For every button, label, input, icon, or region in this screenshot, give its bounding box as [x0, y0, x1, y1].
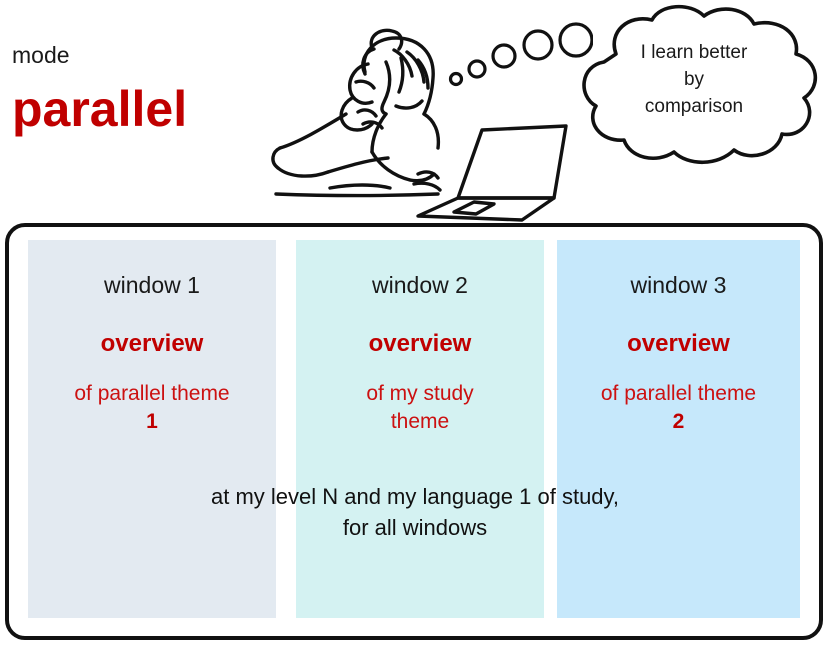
window-2-sub-line-2: theme — [302, 408, 538, 436]
window-3-overview: overview — [557, 330, 800, 358]
window-1-overview: overview — [28, 330, 276, 358]
caption-line-2: for all windows — [100, 513, 730, 544]
window-panel-1[interactable]: window 1 overview of parallel theme 1 — [28, 240, 276, 618]
window-panel-2[interactable]: window 2 overview of my study theme — [296, 240, 544, 618]
shared-caption: at my level N and my language 1 of study… — [100, 482, 730, 544]
window-1-title: window 1 — [28, 272, 276, 298]
diagram-canvas: mode parallel — [0, 0, 828, 645]
mode-label: mode — [12, 44, 70, 67]
bubble-line-1: I learn better — [596, 40, 792, 67]
window-3-subtitle: of parallel theme 2 — [557, 380, 800, 437]
window-3-title: window 3 — [557, 272, 800, 298]
window-3-sub-line: of parallel theme — [563, 380, 794, 408]
window-1-subtitle: of parallel theme 1 — [28, 380, 276, 437]
bubble-line-3: comparison — [596, 94, 792, 121]
windows-panel-group: window 1 overview of parallel theme 1 wi… — [28, 240, 800, 618]
window-panel-3[interactable]: window 3 overview of parallel theme 2 — [557, 240, 800, 618]
window-2-subtitle: of my study theme — [296, 380, 544, 437]
mode-value: parallel — [12, 84, 187, 134]
caption-line-1: at my level N and my language 1 of study… — [100, 482, 730, 513]
window-1-sub-line: of parallel theme — [34, 380, 270, 408]
bubble-line-2: by — [596, 67, 792, 94]
window-1-sub-strong: 1 — [34, 408, 270, 436]
window-2-sub-line: of my study — [302, 380, 538, 408]
window-2-overview: overview — [296, 330, 544, 358]
window-3-sub-strong: 2 — [563, 408, 794, 436]
thought-bubble-text: I learn better by comparison — [596, 40, 792, 121]
window-2-title: window 2 — [296, 272, 544, 298]
